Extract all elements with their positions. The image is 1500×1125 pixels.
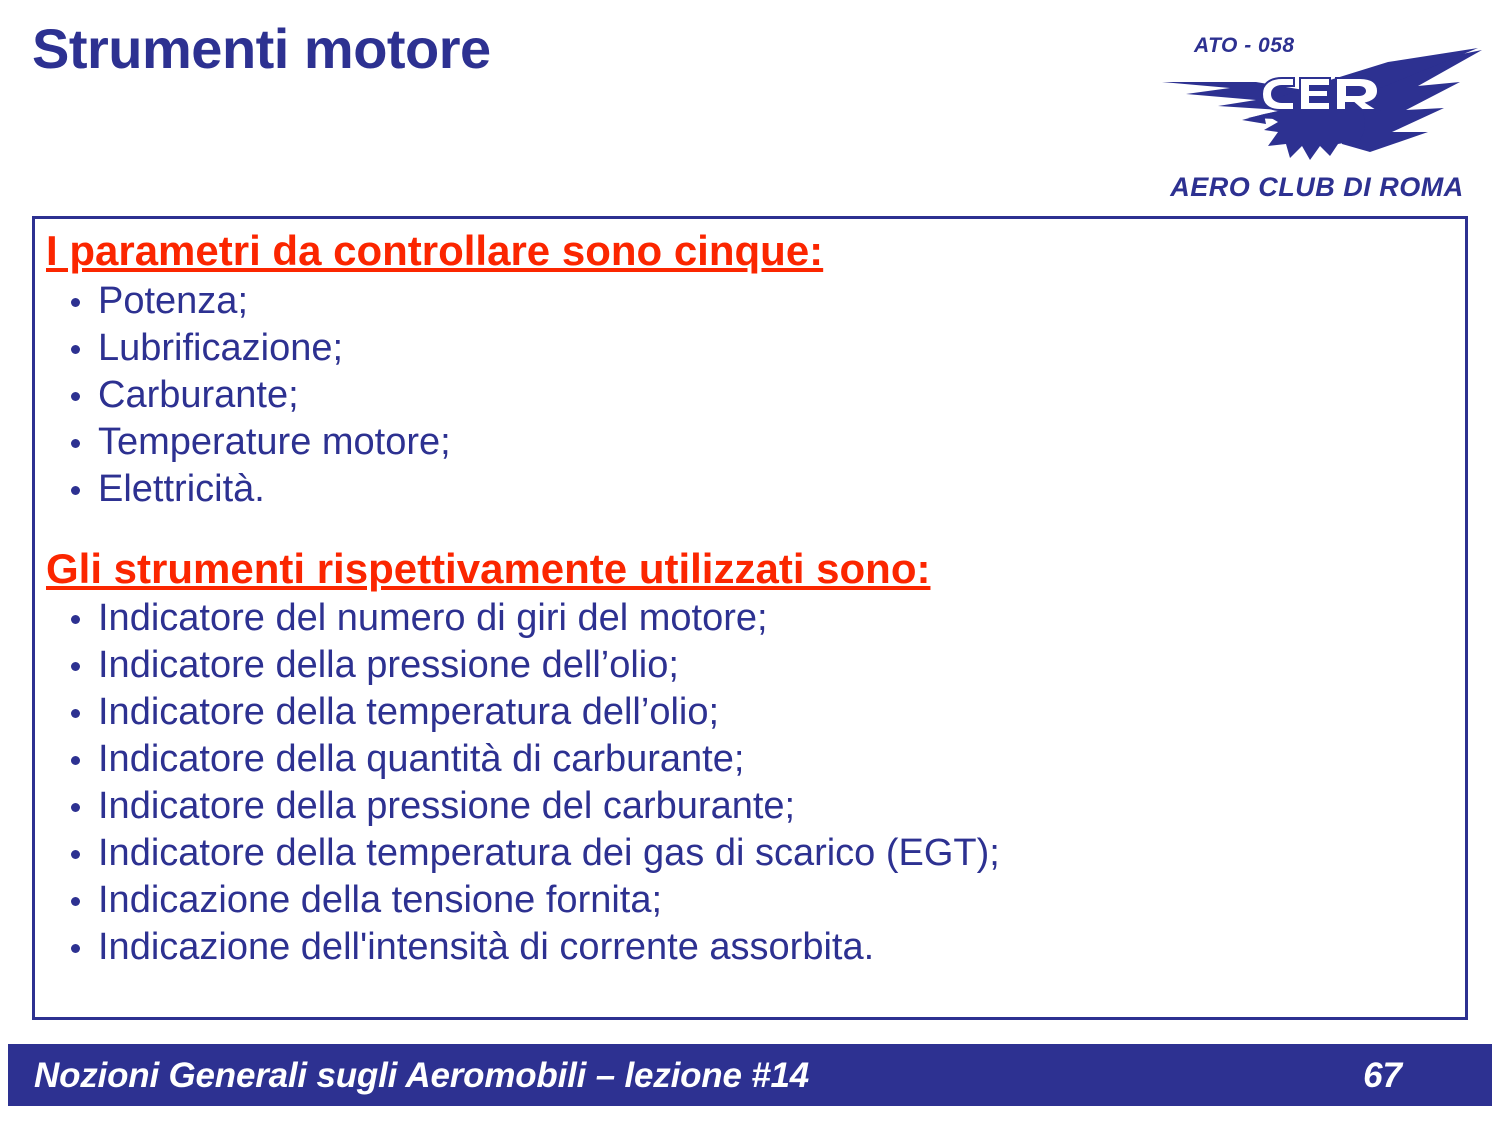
list-item-label: Temperature motore; (98, 421, 451, 463)
section-2-bullet-list: Indicatore del numero di giri del motore… (46, 595, 1459, 971)
list-item-label: Indicatore della temperatura dell’olio; (98, 691, 719, 733)
bullet-dot-icon (71, 803, 80, 812)
aero-club-caption: AERO CLUB DI ROMA (1152, 172, 1482, 203)
list-item: Carburante; (46, 372, 1459, 419)
bullet-dot-icon (71, 850, 80, 859)
list-item: Temperature motore; (46, 419, 1459, 466)
bullet-dot-icon (71, 298, 80, 307)
list-item: Indicatore della temperatura dell’olio; (46, 689, 1459, 736)
footer-bar: Nozioni Generali sugli Aeromobili – lezi… (8, 1044, 1492, 1106)
page-title: Strumenti motore (32, 18, 491, 80)
footer-title: Nozioni Generali sugli Aeromobili – lezi… (34, 1056, 809, 1096)
bullet-dot-icon (71, 345, 80, 354)
bullet-dot-icon (71, 615, 80, 624)
list-item-label: Lubrificazione; (98, 327, 343, 369)
list-item-label: Carburante; (98, 374, 299, 416)
list-item: Indicatore della temperatura dei gas di … (46, 830, 1459, 877)
list-item-label: Potenza; (98, 280, 248, 322)
bullet-dot-icon (71, 944, 80, 953)
bullet-dot-icon (71, 392, 80, 401)
aero-club-logo: ATO - 058 AERO CLUB D (1152, 14, 1482, 209)
list-item: Indicatore della pressione del carburant… (46, 783, 1459, 830)
list-item: Indicatore della quantità di carburante; (46, 736, 1459, 783)
section-1-heading: I parametri da controllare sono cinque: (46, 227, 1459, 274)
bullet-dot-icon (71, 662, 80, 671)
list-item-label: Indicatore della quantità di carburante; (98, 738, 744, 780)
list-item: Indicazione della tensione fornita; (46, 877, 1459, 924)
list-item: Indicatore della pressione dell’olio; (46, 642, 1459, 689)
section-1-bullet-list: Potenza; Lubrificazione; Carburante; Tem… (46, 278, 1459, 513)
section-2-heading: Gli strumenti rispettivamente utilizzati… (46, 545, 1459, 592)
content-inner: I parametri da controllare sono cinque: … (46, 227, 1459, 971)
page-number: 67 (1363, 1056, 1402, 1096)
bullet-dot-icon (71, 439, 80, 448)
bullet-dot-icon (71, 486, 80, 495)
list-item-label: Indicatore della temperatura dei gas di … (98, 832, 1000, 874)
list-item-label: Indicazione dell'intensità di corrente a… (98, 926, 874, 968)
list-item-label: Indicatore della pressione del carburant… (98, 785, 795, 827)
list-item-label: Indicatore del numero di giri del motore… (98, 597, 768, 639)
list-item: Elettricità. (46, 466, 1459, 513)
list-item-label: Indicazione della tensione fornita; (98, 879, 662, 921)
bullet-dot-icon (71, 709, 80, 718)
list-item: Indicatore del numero di giri del motore… (46, 595, 1459, 642)
eagle-icon (1160, 48, 1482, 166)
list-item: Lubrificazione; (46, 325, 1459, 372)
list-item-label: Indicatore della pressione dell’olio; (98, 644, 679, 686)
content-box: I parametri da controllare sono cinque: … (32, 216, 1468, 1020)
bullet-dot-icon (71, 897, 80, 906)
list-item-label: Elettricità. (98, 468, 265, 510)
bullet-dot-icon (71, 756, 80, 765)
list-item: Potenza; (46, 278, 1459, 325)
list-item: Indicazione dell'intensità di corrente a… (46, 924, 1459, 971)
